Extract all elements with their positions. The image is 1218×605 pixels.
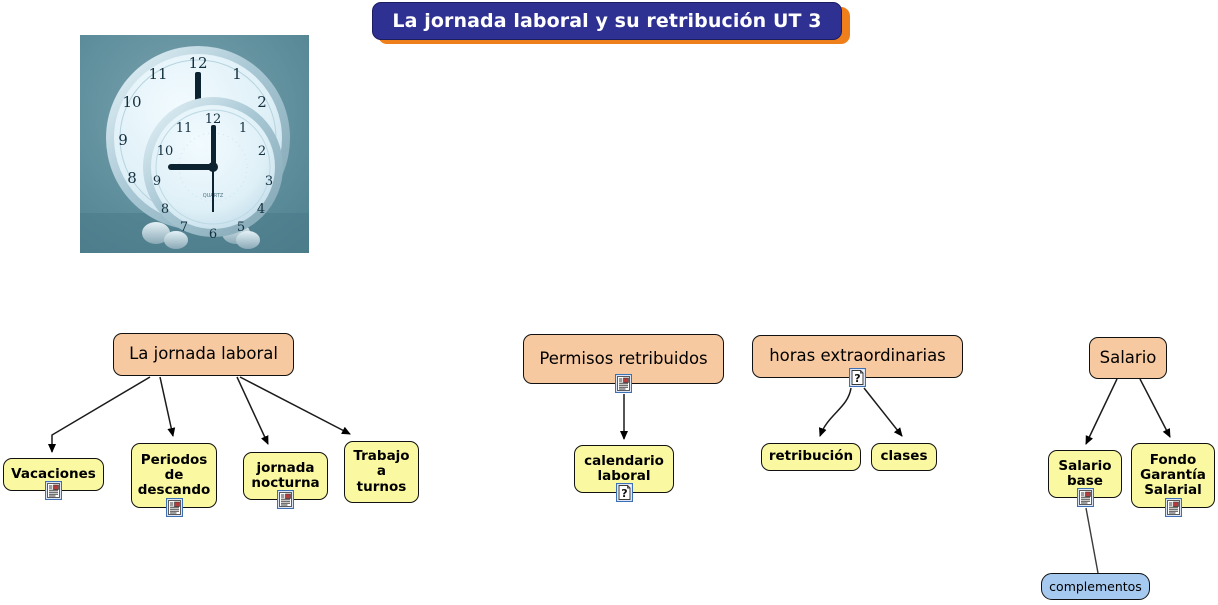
node-label-salario: Salario [1094, 349, 1163, 367]
svg-text:2: 2 [257, 93, 267, 111]
node-jornada-laboral[interactable]: La jornada laboral [113, 333, 294, 376]
document-icon[interactable] [166, 498, 183, 517]
svg-text:4: 4 [257, 202, 265, 217]
link-horas-to-retribucion [820, 388, 851, 436]
svg-text:?: ? [621, 487, 627, 500]
concept-map-canvas: La jornada laboral y su retribución UT 3 [0, 0, 1218, 605]
svg-text:8: 8 [127, 169, 137, 187]
node-complementos[interactable]: complementos [1041, 573, 1150, 600]
node-label-trabajo-a-turnos: Trabajo a turnos [347, 449, 415, 494]
svg-text:3: 3 [265, 174, 273, 189]
node-label-permisos-retribuidos: Permisos retribuidos [533, 350, 713, 368]
svg-text:9: 9 [153, 174, 161, 189]
node-label-fondo-garantia: Fondo Garantía Salarial [1134, 453, 1212, 498]
title-box: La jornada laboral y su retribución UT 3 [372, 2, 842, 40]
svg-text:10: 10 [157, 144, 174, 159]
question-doc-icon[interactable]: ? [616, 483, 633, 502]
svg-text:11: 11 [176, 121, 193, 136]
svg-text:2: 2 [258, 144, 266, 159]
node-trabajo-a-turnos[interactable]: Trabajo a turnos [344, 441, 419, 503]
svg-text:12: 12 [188, 54, 207, 72]
svg-text:8: 8 [161, 202, 169, 217]
node-label-vacaciones: Vacaciones [5, 467, 102, 482]
svg-text:11: 11 [148, 65, 167, 83]
link-jornada-to-periodos [160, 377, 173, 436]
node-label-jornada-nocturna: jornada nocturna [245, 461, 325, 491]
document-icon[interactable] [45, 481, 62, 500]
node-label-calendario-laboral: calendario laboral [578, 454, 670, 484]
node-label-clases: clases [875, 449, 934, 464]
link-jornada-to-vacaciones [52, 377, 150, 452]
page-title-banner: La jornada laboral y su retribución UT 3 [372, 2, 850, 44]
node-label-periodos-descando: Periodos de descando [132, 453, 217, 498]
node-label-jornada-laboral: La jornada laboral [123, 345, 284, 363]
link-salario-to-fondo [1140, 379, 1170, 437]
alarm-clocks-photo: 12 1 2 3 4 5 6 7 8 9 10 11 [80, 35, 309, 253]
node-retribucion[interactable]: retribución [761, 443, 861, 471]
svg-text:6: 6 [209, 227, 217, 242]
svg-text:?: ? [854, 372, 860, 385]
link-jornada-to-turnos [240, 377, 350, 434]
node-clases[interactable]: clases [871, 443, 937, 471]
node-label-retribucion: retribución [763, 449, 859, 464]
svg-text:1: 1 [239, 121, 247, 136]
svg-text:9: 9 [118, 131, 128, 149]
svg-text:5: 5 [237, 220, 245, 235]
svg-text:1: 1 [232, 65, 242, 83]
document-icon[interactable] [615, 374, 632, 393]
document-icon[interactable] [1165, 498, 1182, 517]
node-label-horas-extraordinarias: horas extraordinarias [763, 347, 952, 365]
svg-text:7: 7 [180, 220, 188, 235]
node-label-complementos: complementos [1043, 580, 1148, 594]
link-horas-to-clases [864, 388, 902, 436]
link-jornada-to-nocturna [237, 377, 268, 444]
link-salario-to-base [1086, 379, 1117, 444]
document-icon[interactable] [277, 490, 294, 509]
node-salario[interactable]: Salario [1089, 337, 1167, 379]
page-title: La jornada laboral y su retribución UT 3 [392, 10, 821, 32]
question-doc-icon[interactable]: ? [849, 368, 866, 387]
svg-text:12: 12 [205, 112, 222, 127]
link-base-to-complementos [1086, 508, 1098, 573]
svg-text:10: 10 [122, 93, 141, 111]
node-label-salario-base: Salario base [1052, 459, 1117, 489]
document-icon[interactable] [1077, 488, 1094, 507]
